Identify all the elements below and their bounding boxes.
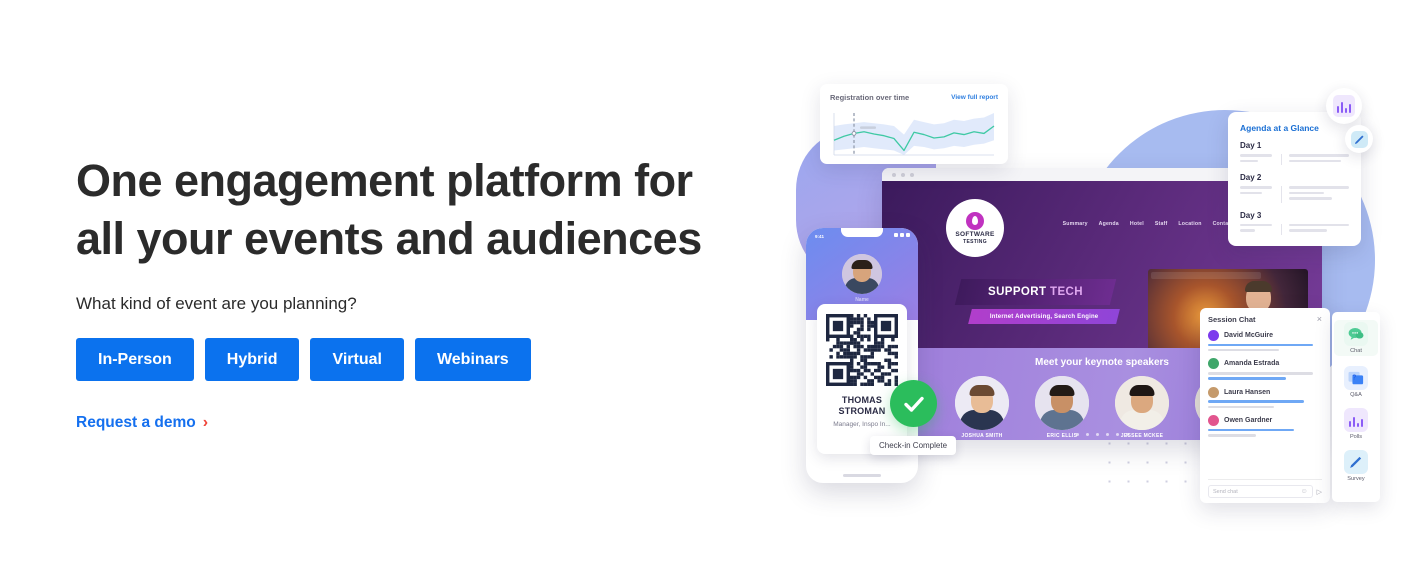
event-type-hybrid-button[interactable]: Hybrid <box>205 338 300 381</box>
registration-chart-svg <box>830 109 998 159</box>
avatar <box>1115 376 1169 430</box>
session-banner: SUPPORT TECH <box>955 279 1116 305</box>
rail-label: Polls <box>1334 434 1378 440</box>
svg-text:?: ? <box>1352 373 1356 381</box>
rail-label: Chat <box>1334 348 1378 354</box>
engagement-tools-rail: Chat ? Q&A Pol <box>1332 312 1380 502</box>
close-icon[interactable]: × <box>1317 315 1322 324</box>
survey-floating-badge[interactable] <box>1345 125 1373 153</box>
nav-item-agenda[interactable]: Agenda <box>1099 221 1119 227</box>
avatar <box>1208 358 1219 369</box>
hero-copy: One engagement platform for all your eve… <box>76 152 736 432</box>
attendee-first-name: THOMAS <box>842 395 882 405</box>
rail-item-polls[interactable]: Polls <box>1334 408 1378 440</box>
status-bar-time: 9:41 <box>815 234 824 239</box>
bar-chart-icon <box>1344 408 1368 432</box>
send-icon[interactable]: ▷ <box>1317 488 1322 496</box>
agenda-day-block: Day 3 <box>1240 211 1349 235</box>
avatar <box>1208 387 1219 398</box>
list-item: Amanda Estrada <box>1208 358 1322 379</box>
qr-code-icon <box>826 314 898 386</box>
pencil-icon <box>1351 131 1368 148</box>
hero-section: One engagement platform for all your eve… <box>0 0 1411 568</box>
speaker-card[interactable]: JESSEE MCKEE <box>1114 376 1170 439</box>
session-banner-strong: SUPPORT <box>988 286 1046 298</box>
hero-subtitle: What kind of event are you planning? <box>76 294 736 314</box>
emoji-icon[interactable]: ☺ <box>1300 488 1307 495</box>
chat-author-name: Owen Gardner <box>1224 417 1272 424</box>
event-site-nav: Summary Agenda Hotel Staff Location Cont… <box>1063 221 1242 227</box>
nav-item-summary[interactable]: Summary <box>1063 221 1088 227</box>
hero-title-line-1: One engagement platform for <box>76 155 693 206</box>
nav-item-hotel[interactable]: Hotel <box>1130 221 1144 227</box>
chevron-right-icon: › <box>203 415 208 431</box>
event-type-virtual-button[interactable]: Virtual <box>310 338 404 381</box>
request-a-demo-label: Request a demo <box>76 414 196 432</box>
agenda-day-label: Day 2 <box>1240 173 1349 182</box>
check-in-tooltip: Check-in Complete <box>870 436 956 455</box>
chat-author-name: Laura Hansen <box>1224 389 1270 396</box>
status-bar-icons <box>894 233 910 237</box>
registration-card-header: Registration over time View full report <box>830 93 998 102</box>
speaker-card[interactable]: JOSHUA SMITH <box>954 376 1010 439</box>
registration-line-chart <box>830 109 998 159</box>
question-mark-icon: ? <box>1344 366 1368 390</box>
attendee-role: Manager, Inspo In... <box>825 421 899 428</box>
session-chat-panel: Session Chat × David McGuire Amanda Estr… <box>1200 308 1330 503</box>
phone-avatar-caption: Name <box>806 297 918 303</box>
avatar <box>1035 376 1089 430</box>
product-illustration: SOFTWARE TESTING Summary Agenda Hotel St… <box>780 0 1411 568</box>
agenda-day-label: Day 3 <box>1240 211 1349 220</box>
list-item: Laura Hansen <box>1208 387 1322 408</box>
nav-item-location[interactable]: Location <box>1178 221 1201 227</box>
event-type-button-group: In-Person Hybrid Virtual Webinars <box>76 338 736 381</box>
agenda-day-block: Day 1 <box>1240 141 1349 165</box>
session-chat-header: Session Chat × <box>1208 315 1322 324</box>
polls-floating-badge[interactable] <box>1326 88 1362 124</box>
rail-item-chat[interactable]: Chat <box>1334 320 1378 356</box>
session-subbanner: Internet Advertising, Search Engine <box>968 309 1120 324</box>
window-maximize-icon[interactable] <box>910 173 914 177</box>
check-in-success-icon <box>890 380 937 427</box>
video-overlay-bar <box>1151 272 1261 279</box>
window-close-icon[interactable] <box>892 173 896 177</box>
hero-title-line-2: all your events and audiences <box>76 213 702 264</box>
chat-bubble-icon <box>1344 322 1368 346</box>
view-full-report-link[interactable]: View full report <box>951 94 998 101</box>
registration-card-title: Registration over time <box>830 93 909 102</box>
agenda-card-title: Agenda at a Glance <box>1240 123 1349 133</box>
send-chat-input[interactable]: Send chat <box>1213 489 1238 495</box>
session-subbanner-text: Internet Advertising, Search Engine <box>990 314 1098 320</box>
agenda-day-block: Day 2 <box>1240 173 1349 203</box>
agenda-day-label: Day 1 <box>1240 141 1349 150</box>
speaker-card[interactable]: ERIC ELLIS <box>1034 376 1090 439</box>
avatar <box>1208 415 1219 426</box>
event-logo: SOFTWARE TESTING <box>946 199 1004 257</box>
rail-label: Q&A <box>1334 392 1378 398</box>
chat-input-row: Send chat ☺ ▷ <box>1208 479 1322 503</box>
nav-item-staff[interactable]: Staff <box>1155 221 1168 227</box>
bar-chart-icon <box>1333 95 1355 117</box>
list-item: Owen Gardner <box>1208 415 1322 436</box>
list-item: David McGuire <box>1208 330 1322 351</box>
rail-item-qa[interactable]: ? Q&A <box>1334 366 1378 398</box>
phone-home-indicator <box>843 474 881 477</box>
pencil-icon <box>1344 450 1368 474</box>
agenda-at-a-glance-card: Agenda at a Glance Day 1 Day 2 Day 3 <box>1228 112 1361 246</box>
chat-author-name: Amanda Estrada <box>1224 360 1279 367</box>
event-logo-line-2: TESTING <box>963 239 987 245</box>
rail-item-survey[interactable]: Survey <box>1334 450 1378 482</box>
session-banner-light: TECH <box>1050 286 1083 298</box>
page-title: One engagement platform for all your eve… <box>76 152 736 268</box>
chat-input-wrapper[interactable]: Send chat ☺ <box>1208 485 1313 498</box>
session-chat-message-list: David McGuire Amanda Estrada <box>1208 330 1322 479</box>
avatar <box>1208 330 1219 341</box>
attendee-name: THOMAS STROMAN <box>825 395 899 417</box>
window-minimize-icon[interactable] <box>901 173 905 177</box>
chat-author-name: David McGuire <box>1224 332 1273 339</box>
event-type-in-person-button[interactable]: In-Person <box>76 338 194 381</box>
rail-label: Survey <box>1334 476 1378 482</box>
avatar <box>842 254 882 294</box>
session-chat-title: Session Chat <box>1208 315 1256 324</box>
droplet-icon <box>966 212 984 230</box>
session-banner-text: SUPPORT TECH <box>988 286 1083 298</box>
registration-over-time-card: Registration over time View full report <box>820 84 1008 164</box>
request-a-demo-link[interactable]: Request a demo › <box>76 414 208 432</box>
avatar <box>955 376 1009 430</box>
phone-notch <box>841 228 883 237</box>
event-type-webinars-button[interactable]: Webinars <box>415 338 531 381</box>
event-logo-line-1: SOFTWARE <box>955 231 994 238</box>
attendee-last-name: STROMAN <box>839 406 886 416</box>
attendee-badge-card: THOMAS STROMAN Manager, Inspo In... <box>817 304 907 454</box>
